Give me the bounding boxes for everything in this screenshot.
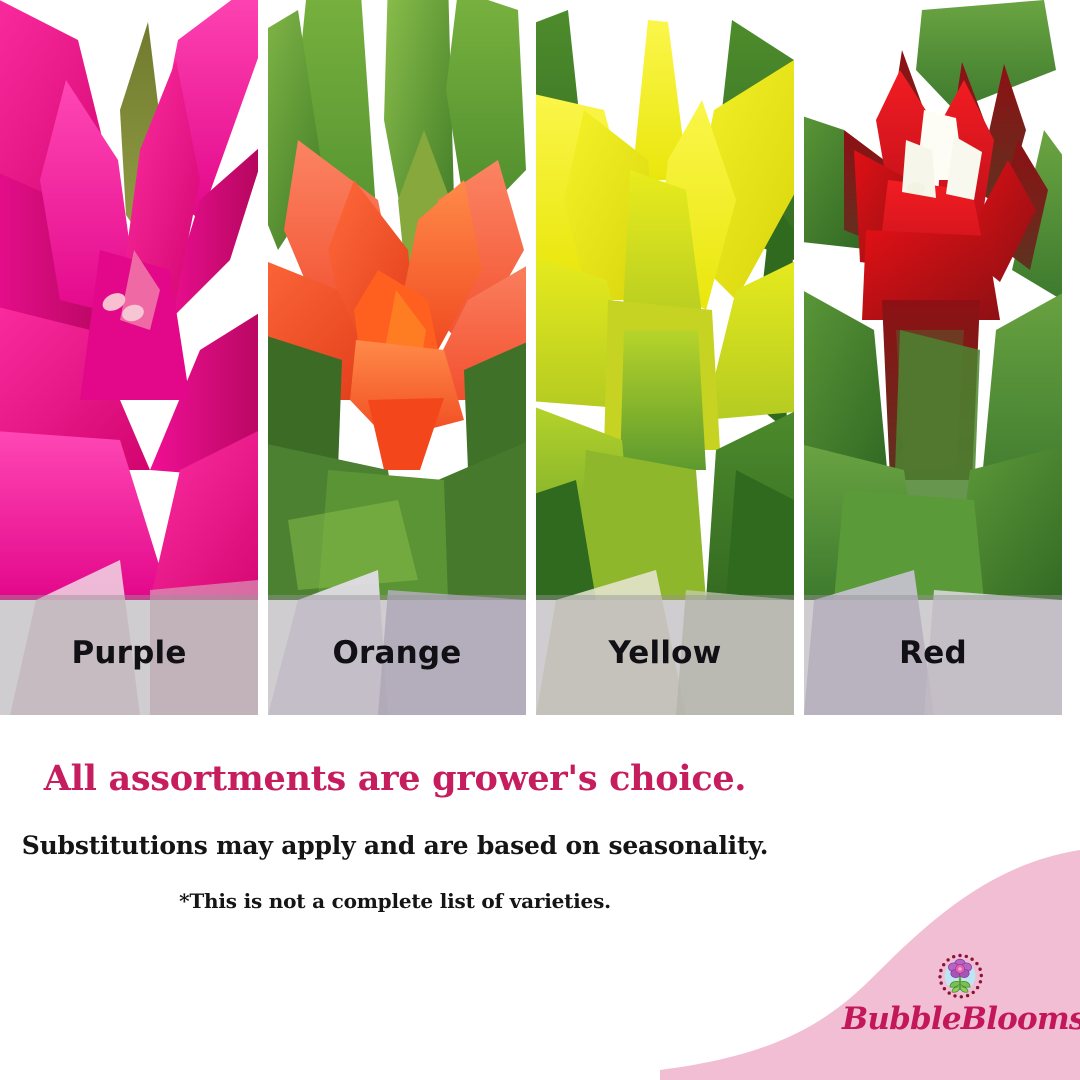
variety-label-yellow: Yellow (608, 638, 721, 669)
disclaimer-copy-block: All assortments are grower's choice. Sub… (0, 760, 790, 912)
footnote-text: *This is not a complete list of varietie… (0, 890, 790, 912)
variety-label-band-red: Red (804, 595, 1062, 715)
variety-gallery: Purple (0, 0, 1080, 715)
variety-panel-yellow[interactable]: Yellow (536, 0, 794, 715)
variety-label-band-purple: Purple (0, 595, 258, 715)
variety-label-red: Red (899, 638, 967, 669)
variety-label-purple: Purple (71, 638, 186, 669)
variety-label-band-yellow: Yellow (536, 595, 794, 715)
variety-panel-orange[interactable]: Orange (268, 0, 526, 715)
variety-panel-red[interactable]: Red (804, 0, 1062, 715)
brand-logo[interactable]: BubbleBlooms (842, 950, 1072, 1068)
subline-text: Substitutions may apply and are based on… (0, 832, 790, 860)
variety-label-band-orange: Orange (268, 595, 526, 715)
variety-label-orange: Orange (332, 638, 461, 669)
promo-image-canvas: Purple (0, 0, 1080, 1080)
brand-wordmark: BubbleBlooms (842, 1004, 1072, 1035)
flower-in-circle-icon (934, 950, 986, 1002)
variety-panel-purple[interactable]: Purple (0, 0, 258, 715)
headline-text: All assortments are grower's choice. (0, 760, 790, 799)
